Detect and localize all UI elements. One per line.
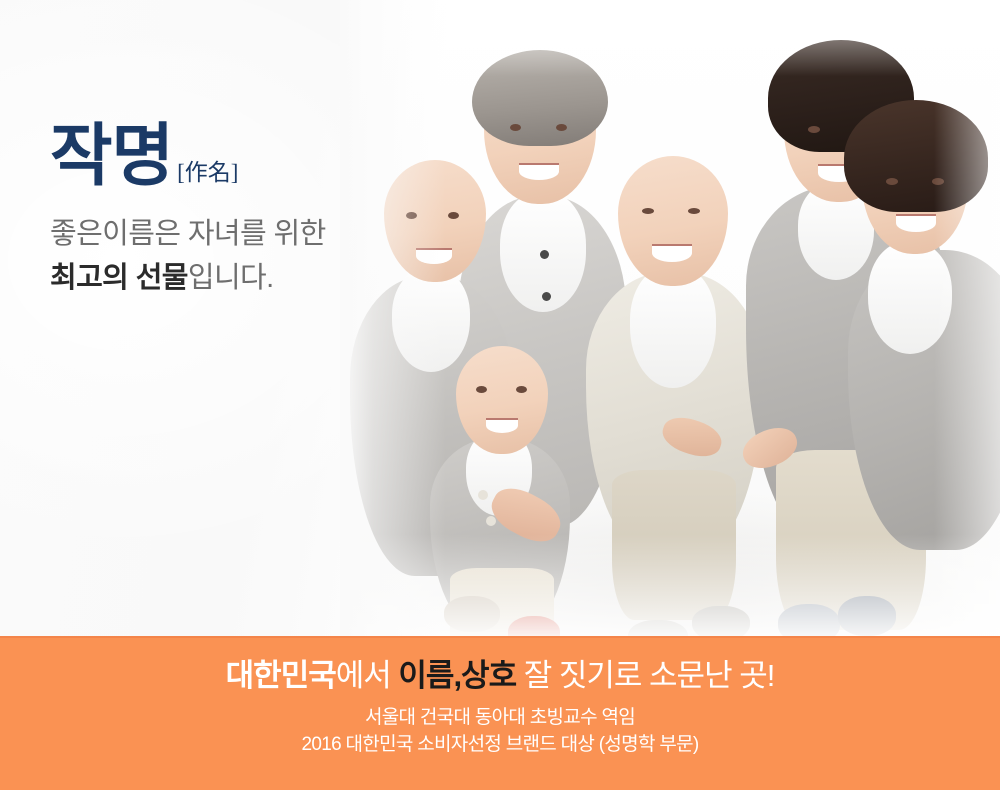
- mother-shirt-collar: [392, 268, 470, 372]
- hero-subcopy-strong: 최고의 선물: [50, 262, 188, 294]
- hero-subcopy-line1: 좋은이름은 자녀를 위한: [50, 212, 380, 256]
- daughter-button: [478, 490, 488, 500]
- daughter-slipper-left: [444, 596, 500, 632]
- mother-smile: [416, 248, 452, 264]
- banner-subtext: 서울대 건국대 동아대 초빙교수 역임 2016 대한민국 소비자선정 브랜드 …: [0, 705, 1000, 759]
- son-eye-right: [932, 178, 944, 185]
- father-sock-right: [838, 596, 896, 636]
- hero-section: 작명 [作名] 좋은이름은 자녀를 위한 최고의 선물입니다.: [0, 0, 1000, 636]
- mother-eye-right: [448, 212, 459, 219]
- daughter-eye-left: [476, 386, 487, 393]
- title-hanja-text: [作名]: [177, 161, 238, 190]
- promo-banner-root: 작명 [作名] 좋은이름은 자녀를 위한 최고의 선물입니다.: [0, 0, 1000, 790]
- hero-subcopy-rest: 입니다.: [188, 262, 274, 294]
- son-eye-left: [886, 178, 898, 185]
- grandmother-eye-left: [642, 208, 654, 214]
- father-eye-left: [808, 126, 820, 133]
- daughter-button: [486, 516, 496, 526]
- son-smile: [896, 214, 936, 232]
- son-hair: [844, 100, 988, 212]
- orange-promo-bar: 대한민국에서 이름,상호 잘 짓기로 소문난 곳! 서울대 건국대 동아대 초빙…: [0, 636, 1000, 790]
- title-main-text: 작명: [50, 122, 173, 190]
- page-title: 작명 [作名]: [50, 122, 380, 190]
- hero-copy-block: 작명 [作名] 좋은이름은 자녀를 위한 최고의 선물입니다.: [50, 122, 380, 300]
- banner-subtext-line2: 2016 대한민국 소비자선정 브랜드 대상 (성명학 부문): [0, 732, 1000, 759]
- father-sock-left: [778, 604, 840, 636]
- daughter-eye-right: [516, 386, 527, 393]
- grandfather-eye-left: [510, 124, 521, 131]
- grandmother-slipper-right: [692, 606, 750, 636]
- banner-headline-part2: 에서: [336, 658, 399, 693]
- family-photo: [340, 0, 1000, 636]
- banner-headline-part3: 이름,상호: [398, 658, 516, 693]
- grandfather-eye-right: [556, 124, 567, 131]
- banner-headline: 대한민국에서 이름,상호 잘 짓기로 소문난 곳!: [0, 659, 1000, 694]
- daughter-smile: [486, 418, 518, 433]
- banner-subtext-line1: 서울대 건국대 동아대 초빙교수 역임: [0, 705, 1000, 732]
- grandmother-pants: [612, 470, 736, 620]
- grandfather-button: [542, 292, 551, 301]
- hero-subcopy: 좋은이름은 자녀를 위한 최고의 선물입니다.: [50, 212, 380, 300]
- banner-headline-part4: 잘 짓기로 소문난 곳!: [516, 658, 774, 693]
- hero-subcopy-line2: 최고의 선물입니다.: [50, 256, 380, 300]
- grandfather-smile: [519, 163, 559, 180]
- mother-eye-left: [406, 212, 417, 219]
- grandfather-button: [540, 250, 549, 259]
- banner-headline-part1: 대한민국: [226, 658, 336, 693]
- son-shirt-collar: [868, 242, 952, 354]
- grandmother-smile: [652, 244, 692, 262]
- grandmother-eye-right: [688, 208, 700, 214]
- grandfather-hair: [472, 50, 608, 146]
